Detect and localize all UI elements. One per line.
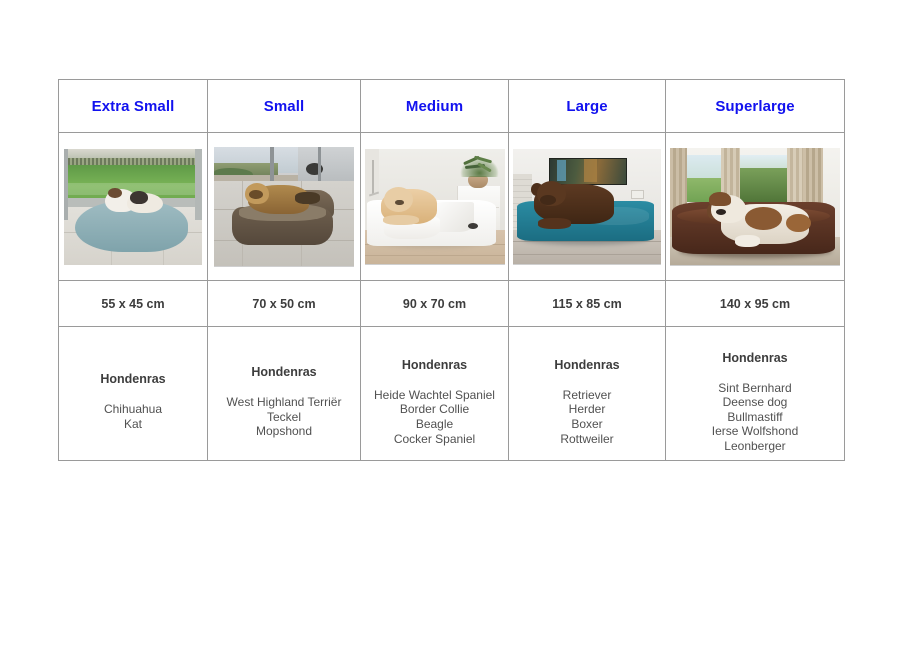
dimensions-label: 90 x 70 cm [361,297,508,311]
breed-list-container: Hondenras West Highland Terriër Teckel M… [208,348,360,439]
breed-item: Leonberger [666,439,844,454]
breed-list-title: Hondenras [666,351,844,365]
breed-item: Mopshond [208,424,360,439]
breed-item: Cocker Spaniel [361,432,508,447]
table-photo-row [59,133,845,281]
product-photo-superlarge [670,148,840,266]
photo-dog-paws [383,215,419,225]
photo-dog-nose [395,200,403,206]
photo-wrapper [59,133,207,280]
breed-item: Heide Wachtel Spaniel [361,388,508,403]
photo-cat-head [130,191,148,204]
breeds-cell-medium: Hondenras Heide Wachtel Spaniel Border C… [361,327,509,461]
photo-wall-art-detail [557,160,566,181]
dimensions-cell-small: 70 x 50 cm [208,281,361,327]
dimensions-label: 140 x 95 cm [666,297,844,311]
photo-cell-extra-small [59,133,208,281]
table-header-row: Extra Small Small Medium Large Superlarg… [59,80,845,133]
size-header-label: Small [208,99,360,114]
breed-list-title: Hondenras [59,372,207,386]
breed-item: Rottweiler [509,432,665,447]
header-cell-extra-small: Extra Small [59,80,208,133]
photo-dog-back [295,192,320,204]
dimensions-label: 70 x 50 cm [208,297,360,311]
header-cell-large: Large [509,80,666,133]
photo-cell-superlarge [666,133,845,281]
table-breeds-row: Hondenras Chihuahua Kat Hondenras West H… [59,327,845,461]
photo-floorboard-line [513,254,661,255]
photo-window-frame [195,149,202,221]
photo-dog-paws [538,218,571,228]
photo-wrapper [666,133,844,280]
breed-list-container: Hondenras Retriever Herder Boxer Rottwei… [509,341,665,446]
breed-item: Herder [509,402,665,417]
photo-hedge [738,168,789,205]
photo-plant-pot [468,176,488,188]
breed-item: Deense dog [666,395,844,410]
dimensions-cell-medium: 90 x 70 cm [361,281,509,327]
breed-list-container: Hondenras Sint Bernhard Deense dog Bullm… [666,334,844,454]
breeds-cell-large: Hondenras Retriever Herder Boxer Rottwei… [509,327,666,461]
breeds-cell-extra-small: Hondenras Chihuahua Kat [59,327,208,461]
photo-cell-large [509,133,666,281]
size-header-label: Medium [361,99,508,114]
photo-dog-patch [745,207,782,231]
table-dimensions-row: 55 x 45 cm 70 x 50 cm 90 x 70 cm 115 x 8… [59,281,845,327]
photo-lamp-stand [372,160,374,195]
breeds-cell-superlarge: Hondenras Sint Bernhard Deense dog Bullm… [666,327,845,461]
header-cell-small: Small [208,80,361,133]
breed-list-container: Hondenras Heide Wachtel Spaniel Border C… [361,341,508,446]
size-header-label: Superlarge [666,99,844,114]
size-header-label: Large [509,99,665,114]
photo-dog-nose [716,209,726,215]
photo-cell-small [208,133,361,281]
breed-item: Chihuahua [59,402,207,417]
breed-item: Border Collie [361,402,508,417]
breed-list-title: Hondenras [361,358,508,372]
photo-wrapper [509,133,665,280]
photo-window-mullion [270,147,274,183]
breed-item: Retriever [509,388,665,403]
size-header-label: Extra Small [59,99,207,114]
product-photo-medium [365,149,505,265]
product-photo-extra-small [64,149,202,265]
photo-floorboard-line [365,255,505,256]
dimensions-cell-superlarge: 140 x 95 cm [666,281,845,327]
header-cell-medium: Medium [361,80,509,133]
dimensions-label: 55 x 45 cm [59,297,207,311]
dimensions-label: 115 x 85 cm [509,297,665,311]
dimensions-cell-extra-small: 55 x 45 cm [59,281,208,327]
product-photo-small [214,147,354,267]
page-root: { "table": { "columns": [ { "id": "extra… [0,0,900,660]
breed-item: Sint Bernhard [666,381,844,396]
breed-list-title: Hondenras [208,365,360,379]
breeds-cell-small: Hondenras West Highland Terriër Teckel M… [208,327,361,461]
photo-wall-art-detail [584,159,597,182]
photo-wrapper [208,133,360,280]
photo-wrapper [361,133,508,280]
photo-wall-socket [631,190,643,199]
photo-bed-tag [468,223,478,229]
breed-item: Kat [59,417,207,432]
photo-window-mullion [318,147,322,183]
photo-dog-leg [735,235,761,247]
photo-wall [298,147,354,183]
photo-dog-markings [709,192,731,206]
dog-bed-size-table: Extra Small Small Medium Large Superlarg… [58,79,845,461]
breed-item: Teckel [208,410,360,425]
breed-item: Bullmastiff [666,410,844,425]
breed-item: Ierse Wolfshond [666,424,844,439]
breed-item: West Highland Terriër [208,395,360,410]
breed-item: Boxer [509,417,665,432]
breed-item: Beagle [361,417,508,432]
product-photo-large [513,149,661,265]
breed-list-title: Hondenras [509,358,665,372]
header-cell-superlarge: Superlarge [666,80,845,133]
photo-window-frame [64,149,68,221]
dimensions-cell-large: 115 x 85 cm [509,281,666,327]
photo-cell-medium [361,133,509,281]
breed-list-container: Hondenras Chihuahua Kat [59,355,207,431]
